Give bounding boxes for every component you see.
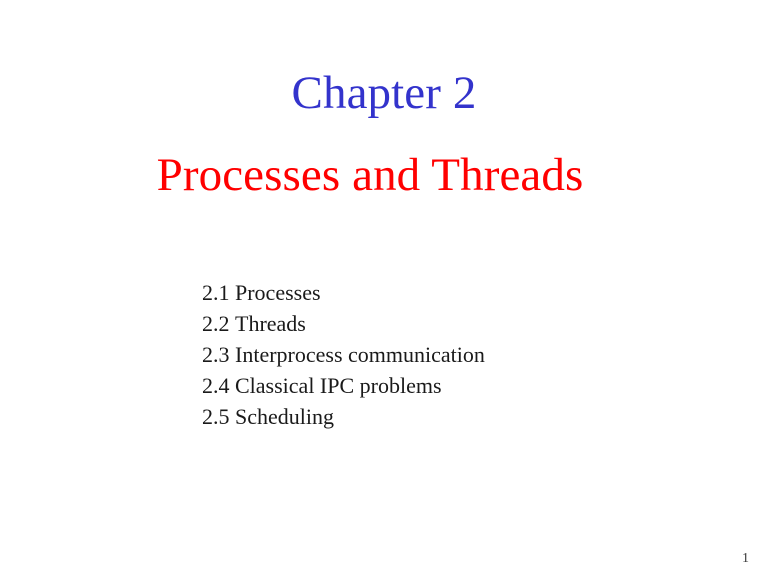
page-title: Chapter 2	[0, 70, 768, 117]
outline-item-label: Processes	[235, 280, 321, 305]
outline-item-label: Scheduling	[235, 404, 334, 429]
list-item: 2.1Processes	[202, 277, 485, 308]
list-item: 2.5Scheduling	[202, 401, 485, 432]
outline-item-number: 2.5	[202, 401, 235, 432]
list-item: 2.4Classical IPC problems	[202, 370, 485, 401]
list-item: 2.2Threads	[202, 308, 485, 339]
list-item: 2.3Interprocess communication	[202, 339, 485, 370]
outline-item-label: Threads	[235, 311, 306, 336]
outline-item-number: 2.3	[202, 339, 235, 370]
outline-item-label: Classical IPC problems	[235, 373, 442, 398]
page-number: 1	[742, 552, 749, 566]
outline-item-number: 2.1	[202, 277, 235, 308]
outline-list: 2.1Processes 2.2Threads 2.3Interprocess …	[202, 277, 485, 432]
presentation-slide: Chapter 2 Processes and Threads 2.1Proce…	[0, 0, 768, 576]
outline-item-number: 2.4	[202, 370, 235, 401]
page-subtitle: Processes and Threads	[0, 152, 768, 199]
outline-item-number: 2.2	[202, 308, 235, 339]
outline-item-label: Interprocess communication	[235, 342, 485, 367]
